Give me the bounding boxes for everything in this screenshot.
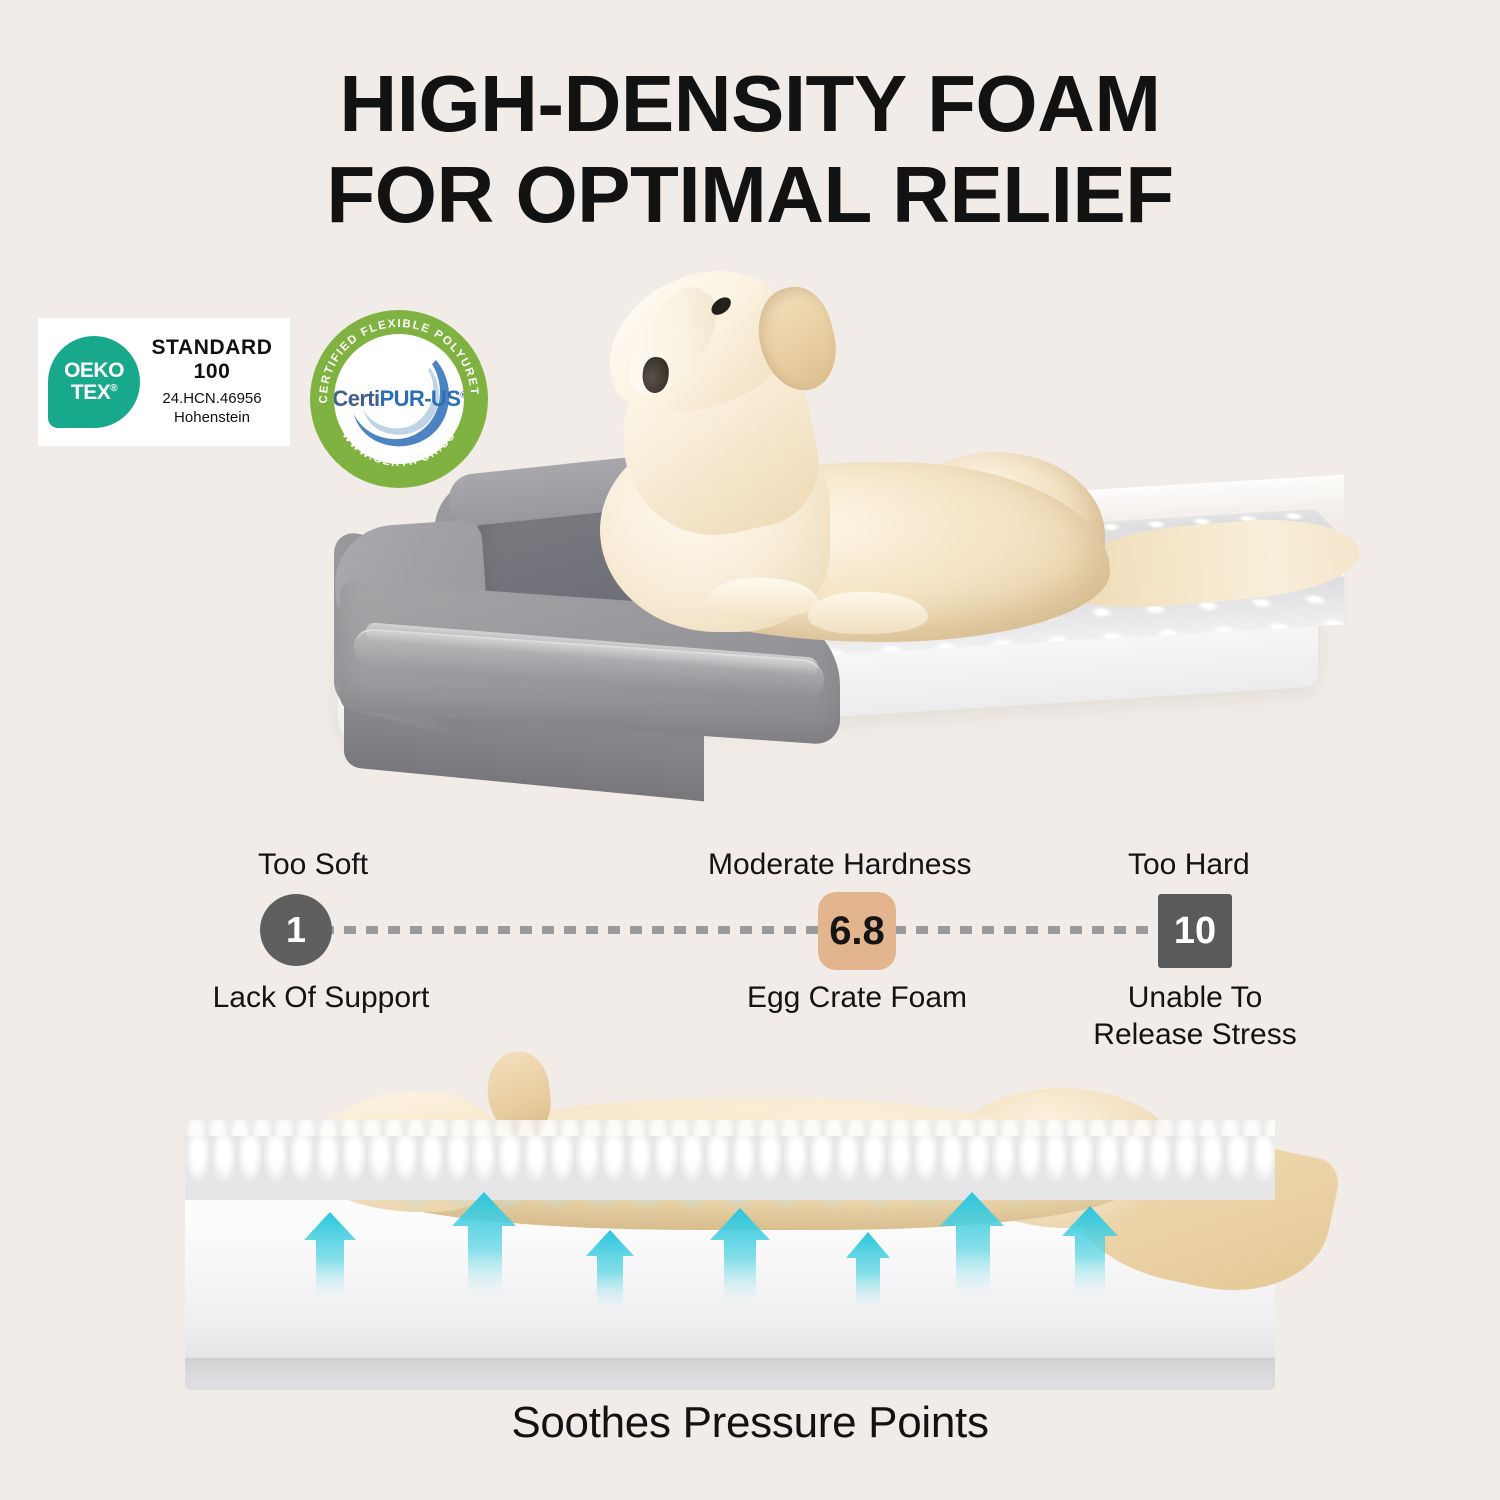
dog-front-paw-right: [808, 592, 928, 634]
pressure-relief-illustration: [0, 1040, 1500, 1400]
support-arrows: [0, 1040, 1500, 1400]
headline-line-1: HIGH-DENSITY FOAM: [339, 59, 1160, 148]
scale-label-too-soft: Too Soft: [258, 848, 368, 882]
scale-marker-10: 10: [1158, 894, 1232, 968]
certipur-ring-text-bottom: WWW.CERTIPUR.US: [340, 429, 459, 469]
scale-label-moderate-hardness: Moderate Hardness: [708, 848, 971, 882]
certipur-ring-text-top: CONTAINS CERTIFIED FLEXIBLE POLYURETHANE…: [310, 310, 480, 404]
page-title: HIGH-DENSITY FOAM FOR OPTIMAL RELIEF: [0, 58, 1500, 240]
scale-desc-egg-crate-foam: Egg Crate Foam: [732, 980, 982, 1017]
foam-hardness-scale: Too Soft Moderate Hardness Too Hard 1 6.…: [0, 840, 1500, 1055]
labrador-dog: [560, 262, 1350, 682]
certipur-us-badge: CONTAINS CERTIFIED FLEXIBLE POLYURETHANE…: [310, 310, 488, 488]
pressure-points-caption: Soothes Pressure Points: [0, 1398, 1500, 1448]
hardness-scale-track: [300, 926, 1186, 934]
dog-on-orthopedic-bolster-bed-photo: [0, 262, 1500, 822]
scale-label-too-hard: Too Hard: [1128, 848, 1250, 882]
dog-muzzle: [613, 276, 732, 410]
headline-line-2: FOR OPTIMAL RELIEF: [0, 149, 1500, 240]
dog-front-paw-left: [708, 578, 818, 618]
dog-nose: [641, 356, 669, 394]
dog-ear: [749, 280, 846, 399]
certipur-ring-text: CONTAINS CERTIFIED FLEXIBLE POLYURETHANE…: [310, 310, 488, 488]
scale-marker-1: 1: [260, 894, 332, 966]
scale-marker-6-8: 6.8: [818, 892, 896, 970]
scale-desc-lack-of-support: Lack Of Support: [196, 980, 446, 1017]
